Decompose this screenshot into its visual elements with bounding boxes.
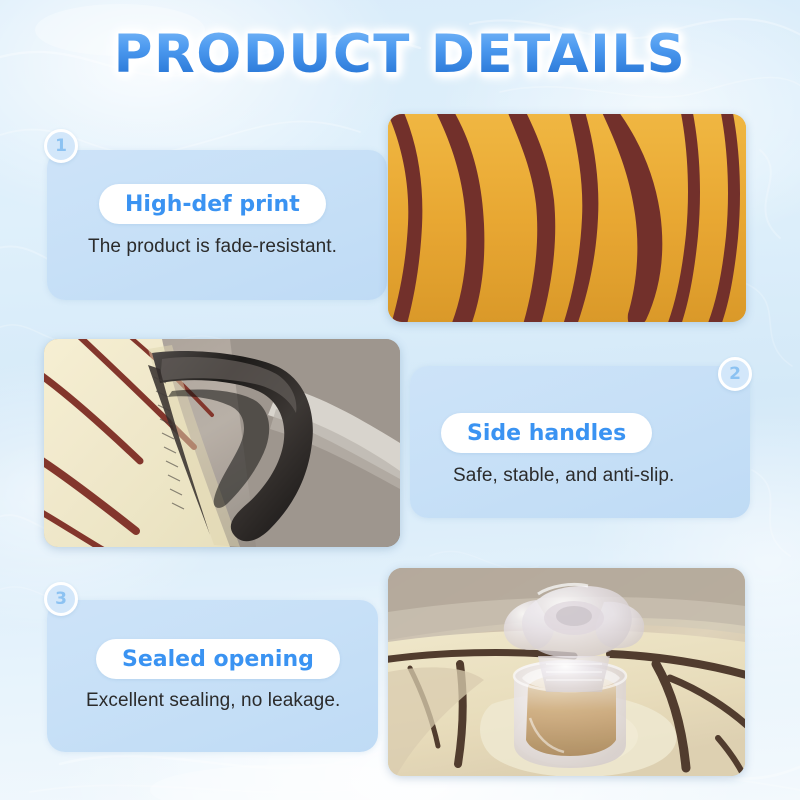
- side-handle-texture: [44, 339, 400, 547]
- sealed-valve-photo: [388, 568, 745, 776]
- feature-description-2: Safe, stable, and anti-slip.: [453, 465, 674, 487]
- feature-card-1: [47, 150, 387, 300]
- feature-badge-1: 1: [44, 129, 78, 163]
- tiger-stripe-fabric-photo: [388, 114, 746, 322]
- product-details-infographic: PRODUCT DETAILS 1 High-def print The pro…: [0, 0, 800, 800]
- sealed-valve-texture: [388, 568, 745, 776]
- feature-badge-3: 3: [44, 582, 78, 616]
- feature-title-pill-2: Side handles: [441, 413, 652, 453]
- page-title-wrapper: PRODUCT DETAILS: [0, 24, 800, 85]
- feature-description-3: Excellent sealing, no leakage.: [86, 690, 340, 712]
- feature-title-pill-3: Sealed opening: [96, 639, 340, 679]
- side-handle-photo: [44, 339, 400, 547]
- feature-title-pill-1: High-def print: [99, 184, 326, 224]
- tiger-stripe-texture: [388, 114, 746, 322]
- feature-badge-2: 2: [718, 357, 752, 391]
- page-title: PRODUCT DETAILS: [114, 24, 687, 85]
- feature-description-1: The product is fade-resistant.: [88, 236, 337, 258]
